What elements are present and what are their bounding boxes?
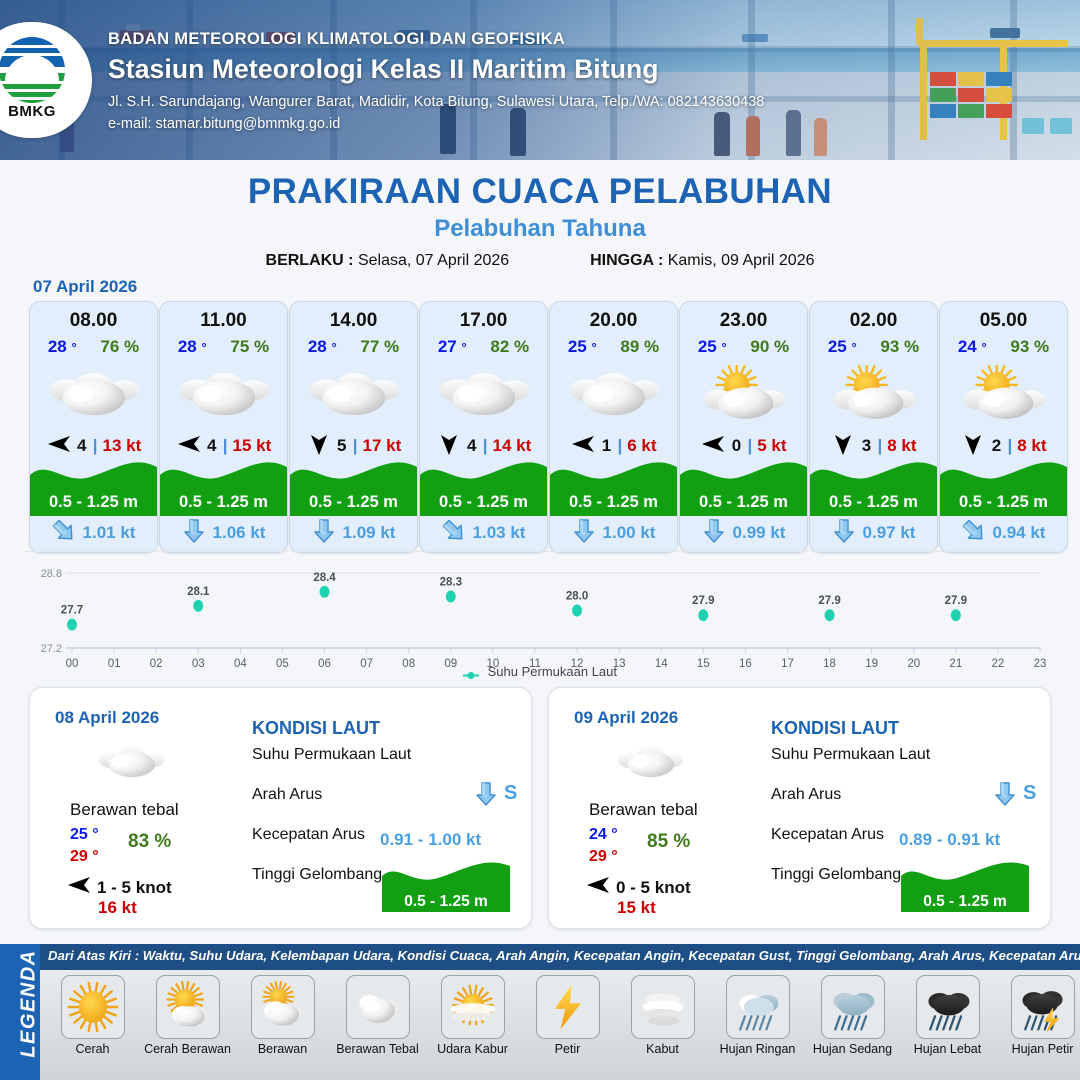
current-direction-arrow-icon: [572, 518, 596, 549]
card-wave-block: 0.5 - 1.25 m: [680, 451, 807, 516]
daily-temp-min: 24 °: [589, 826, 618, 844]
legend-vertical-label: LEGENDA: [18, 936, 41, 1072]
current-direction-arrow-icon: [702, 518, 726, 549]
cerah-berawan-icon: [156, 975, 220, 1039]
legend-item: Petir: [520, 975, 615, 1056]
svg-text:28.3: 28.3: [440, 576, 462, 588]
legend-item-label: Berawan Tebal: [330, 1042, 425, 1056]
daily-date: 09 April 2026: [574, 708, 678, 728]
card-temp-hum-row: 28 ° 77 %: [290, 337, 417, 357]
forecast-date-label: 07 April 2026: [33, 277, 137, 297]
valid-from-value: Selasa, 07 April 2026: [358, 252, 509, 269]
legend-item-label: Cerah: [45, 1042, 140, 1056]
card-humidity: 76 %: [100, 337, 139, 357]
svg-text:27.7: 27.7: [61, 605, 83, 617]
forecast-card: 05.00 24 ° 93 % 2 | 8: [939, 301, 1068, 553]
legend-caption: Dari Atas Kiri : Waktu, Suhu Udara, Kele…: [48, 948, 1078, 963]
card-temp-hum-row: 25 ° 93 %: [810, 337, 937, 357]
svg-text:28.4: 28.4: [313, 572, 336, 584]
legend-item-label: Petir: [520, 1042, 615, 1056]
current-direction-arrow-icon: [442, 518, 466, 549]
daily-wind-direction-arrow-icon: [66, 874, 92, 901]
daily-wind-row: 1 - 5 knot: [66, 874, 172, 901]
card-current-speed: 1.06 kt: [213, 523, 266, 543]
card-wave-block: 0.5 - 1.25 m: [810, 451, 937, 516]
card-wave-height: 0.5 - 1.25 m: [30, 493, 157, 512]
card-time: 17.00: [420, 310, 547, 332]
svg-text:27.9: 27.9: [692, 595, 714, 607]
card-temp-hum-row: 28 ° 76 %: [30, 337, 157, 357]
card-weather-icon-berawan-tebal: [290, 364, 417, 426]
daily-label-current-speed: Kecepatan Arus: [771, 826, 884, 844]
card-time: 05.00: [940, 310, 1067, 332]
card-wave-block: 0.5 - 1.25 m: [550, 451, 677, 516]
daily-current-speed-value: 0.91 - 1.00 kt: [380, 830, 481, 850]
current-direction-arrow-icon: [182, 518, 206, 549]
header-org-name: BADAN METEOROLOGI KLIMATOLOGI DAN GEOFIS…: [108, 30, 764, 49]
card-wave-height: 0.5 - 1.25 m: [940, 493, 1067, 512]
card-weather-icon-cerah-berawan: [940, 364, 1067, 426]
card-wave-block: 0.5 - 1.25 m: [420, 451, 547, 516]
svg-text:28.0: 28.0: [566, 591, 588, 603]
daily-label-current-direction: Arah Arus: [252, 786, 322, 804]
card-time: 08.00: [30, 310, 157, 332]
svg-text:28.1: 28.1: [187, 586, 210, 598]
hujan-sedang-icon: [821, 975, 885, 1039]
card-wave-block: 0.5 - 1.25 m: [30, 451, 157, 516]
hujan-ringan-icon: [726, 975, 790, 1039]
page-title: PRAKIRAAN CUACA PELABUHAN: [0, 172, 1080, 212]
card-time: 02.00: [810, 310, 937, 332]
current-direction-arrow-icon: [962, 518, 986, 549]
page-header: BMKG BADAN METEOROLOGI KLIMATOLOGI DAN G…: [0, 0, 1080, 160]
card-current-row: 1.09 kt: [290, 517, 417, 549]
card-current-row: 0.94 kt: [940, 517, 1067, 549]
card-weather-icon-cerah-berawan: [810, 364, 937, 426]
card-humidity: 89 %: [620, 337, 659, 357]
legend-item-label: Hujan Ringan: [710, 1042, 805, 1056]
card-wave-height: 0.5 - 1.25 m: [290, 493, 417, 512]
card-wave-block: 0.5 - 1.25 m: [290, 451, 417, 516]
valid-until-value: Kamis, 09 April 2026: [668, 252, 815, 269]
daily-wind-range: 0 - 5 knot: [616, 878, 691, 898]
bmkg-logo-text: BMKG: [0, 103, 69, 120]
card-time: 11.00: [160, 310, 287, 332]
valid-from-label: BERLAKU :: [266, 252, 354, 269]
card-temp-hum-row: 25 ° 89 %: [550, 337, 677, 357]
daily-current-direction-value: S: [504, 782, 517, 805]
card-wave-height: 0.5 - 1.25 m: [550, 493, 677, 512]
daily-wave-value: 0.5 - 1.25 m: [901, 893, 1029, 911]
card-current-row: 0.99 kt: [680, 517, 807, 549]
sst-legend-marker-icon: [463, 668, 479, 677]
daily-wind-direction-arrow-icon: [585, 874, 611, 901]
forecast-card-list: 08.00 28 ° 76 % 4 | 13 kt: [29, 301, 1051, 551]
daily-summary-panel: 09 April 2026 Berawan tebal 24 ° 29 ° 85…: [548, 687, 1051, 929]
legend-body: Dari Atas Kiri : Waktu, Suhu Udara, Kele…: [40, 944, 1080, 1080]
daily-wind-range: 1 - 5 knot: [97, 878, 172, 898]
card-humidity: 75 %: [230, 337, 269, 357]
card-current-row: 1.00 kt: [550, 517, 677, 549]
current-direction-arrow-icon: [312, 518, 336, 549]
daily-sea-title: KONDISI LAUT: [252, 718, 380, 739]
daily-date: 08 April 2026: [55, 708, 159, 728]
forecast-card: 08.00 28 ° 76 % 4 | 13 kt: [29, 301, 158, 553]
card-humidity: 82 %: [490, 337, 529, 357]
card-wave-height: 0.5 - 1.25 m: [810, 493, 937, 512]
hujan-petir-icon: [1011, 975, 1075, 1039]
berawan-icon: [251, 975, 315, 1039]
header-email: e-mail: stamar.bitung@bmmkg.go.id: [108, 116, 764, 132]
forecast-card: 02.00 25 ° 93 % 3 | 8: [809, 301, 938, 553]
legend-item: Berawan: [235, 975, 330, 1056]
daily-current-arrow-icon: [474, 781, 498, 809]
card-weather-icon-berawan-tebal: [550, 364, 677, 426]
daily-humidity: 83 %: [128, 831, 171, 853]
legend-item: Udara Kabur: [425, 975, 520, 1056]
legend-item: Kabut: [615, 975, 710, 1056]
daily-weather-icon-berawan-tebal: [92, 736, 172, 788]
daily-gust: 16 kt: [98, 898, 137, 918]
card-temperature: 25 °: [828, 337, 857, 357]
header-address: Jl. S.H. Sarundajang, Wangurer Barat, Ma…: [108, 94, 764, 110]
legend-item-label: Kabut: [615, 1042, 710, 1056]
daily-temp-max: 29 °: [70, 848, 99, 866]
header-text-block: BADAN METEOROLOGI KLIMATOLOGI DAN GEOFIS…: [108, 30, 764, 132]
card-current-row: 1.03 kt: [420, 517, 547, 549]
card-humidity: 77 %: [360, 337, 399, 357]
legend-item-label: Berawan: [235, 1042, 330, 1056]
legend-item-label: Hujan Lebat: [900, 1042, 995, 1056]
legend-item: Hujan Petir: [995, 975, 1080, 1056]
card-wave-block: 0.5 - 1.25 m: [940, 451, 1067, 516]
card-time: 20.00: [550, 310, 677, 332]
card-humidity: 93 %: [880, 337, 919, 357]
card-current-row: 1.01 kt: [30, 517, 157, 549]
legend-section: LEGENDA Dari Atas Kiri : Waktu, Suhu Uda…: [0, 944, 1080, 1080]
card-wave-height: 0.5 - 1.25 m: [420, 493, 547, 512]
legend-item-label: Cerah Berawan: [140, 1042, 235, 1056]
legend-item: Hujan Sedang: [805, 975, 900, 1056]
card-temperature: 24 °: [958, 337, 987, 357]
validity-row: BERLAKU : Selasa, 07 April 2026 HINGGA :…: [0, 252, 1080, 270]
legend-item-label: Hujan Sedang: [805, 1042, 900, 1056]
daily-condition: Berawan tebal: [70, 800, 179, 820]
card-current-row: 0.97 kt: [810, 517, 937, 549]
daily-label-current-direction: Arah Arus: [771, 786, 841, 804]
udara-kabur-icon: [441, 975, 505, 1039]
daily-summary-panel: 08 April 2026 Berawan tebal 25 ° 29 ° 83…: [29, 687, 532, 929]
forecast-card: 23.00 25 ° 90 % 0 | 5: [679, 301, 808, 553]
card-temperature: 28 °: [178, 337, 207, 357]
card-time: 23.00: [680, 310, 807, 332]
forecast-card: 14.00 28 ° 77 % 5 | 17 kt: [289, 301, 418, 553]
card-humidity: 93 %: [1010, 337, 1049, 357]
daily-label-wave-height: Tinggi Gelombang: [771, 866, 901, 884]
card-temp-hum-row: 24 ° 93 %: [940, 337, 1067, 357]
chart-legend-label: Suhu Permukaan Laut: [488, 664, 617, 679]
legend-item: Cerah: [45, 975, 140, 1056]
daily-condition: Berawan tebal: [589, 800, 698, 820]
daily-weather-icon-berawan-tebal: [611, 736, 691, 788]
card-temperature: 28 °: [48, 337, 77, 357]
petir-icon: [536, 975, 600, 1039]
daily-summary-list: 08 April 2026 Berawan tebal 25 ° 29 ° 83…: [29, 687, 1051, 927]
daily-humidity: 85 %: [647, 831, 690, 853]
forecast-card: 17.00 27 ° 82 % 4 | 14 kt: [419, 301, 548, 553]
daily-temp-max: 29 °: [589, 848, 618, 866]
header-station-name: Stasiun Meteorologi Kelas II Maritim Bit…: [108, 54, 764, 85]
card-current-speed: 0.99 kt: [733, 523, 786, 543]
card-current-speed: 1.00 kt: [603, 523, 656, 543]
kabut-icon: [631, 975, 695, 1039]
legend-item-label: Hujan Petir: [995, 1042, 1080, 1056]
daily-current-speed-value: 0.89 - 0.91 kt: [899, 830, 1000, 850]
svg-text:28.8: 28.8: [41, 568, 62, 580]
chart-legend: Suhu Permukaan Laut: [0, 664, 1080, 679]
valid-until-label: HINGGA :: [590, 252, 663, 269]
card-wave-block: 0.5 - 1.25 m: [160, 451, 287, 516]
card-current-speed: 1.01 kt: [83, 523, 136, 543]
card-wave-height: 0.5 - 1.25 m: [680, 493, 807, 512]
daily-temp-min: 25 °: [70, 826, 99, 844]
card-current-row: 1.06 kt: [160, 517, 287, 549]
card-weather-icon-berawan-tebal: [420, 364, 547, 426]
daily-label-sst: Suhu Permukaan Laut: [252, 746, 411, 764]
legend-item: Berawan Tebal: [330, 975, 425, 1056]
bmkg-emblem-icon: [0, 37, 65, 103]
card-current-speed: 0.97 kt: [863, 523, 916, 543]
daily-sea-title: KONDISI LAUT: [771, 718, 899, 739]
legend-item-list: Cerah Cerah Berawan Berawan Berawan Teba…: [45, 975, 1077, 1056]
daily-label-wave-height: Tinggi Gelombang: [252, 866, 382, 884]
daily-current-direction-value: S: [1023, 782, 1036, 805]
forecast-card: 11.00 28 ° 75 % 4 | 15 kt: [159, 301, 288, 553]
cerah-icon: [61, 975, 125, 1039]
hujan-lebat-icon: [916, 975, 980, 1039]
card-temperature: 28 °: [308, 337, 337, 357]
card-temp-hum-row: 27 ° 82 %: [420, 337, 547, 357]
section-divider: [24, 551, 1056, 552]
current-direction-arrow-icon: [832, 518, 856, 549]
card-humidity: 90 %: [750, 337, 789, 357]
daily-label-current-speed: Kecepatan Arus: [252, 826, 365, 844]
card-weather-icon-cerah-berawan: [680, 364, 807, 426]
card-wave-height: 0.5 - 1.25 m: [160, 493, 287, 512]
daily-current-arrow-icon: [993, 781, 1017, 809]
daily-wave-value: 0.5 - 1.25 m: [382, 893, 510, 911]
card-temperature: 27 °: [438, 337, 467, 357]
svg-text:27.2: 27.2: [41, 643, 62, 655]
legend-item-label: Udara Kabur: [425, 1042, 520, 1056]
berawan-tebal-icon: [346, 975, 410, 1039]
card-time: 14.00: [290, 310, 417, 332]
card-weather-icon-berawan-tebal: [160, 364, 287, 426]
card-current-speed: 1.03 kt: [473, 523, 526, 543]
current-direction-arrow-icon: [52, 518, 76, 549]
card-temperature: 25 °: [568, 337, 597, 357]
daily-label-sst: Suhu Permukaan Laut: [771, 746, 930, 764]
legend-item: Hujan Ringan: [710, 975, 805, 1056]
legend-item: Cerah Berawan: [140, 975, 235, 1056]
forecast-card: 20.00 25 ° 89 % 1 | 6 kt: [549, 301, 678, 553]
card-current-speed: 0.94 kt: [993, 523, 1046, 543]
daily-wind-row: 0 - 5 knot: [585, 874, 691, 901]
daily-gust: 15 kt: [617, 898, 656, 918]
card-temp-hum-row: 25 ° 90 %: [680, 337, 807, 357]
svg-text:27.9: 27.9: [945, 595, 967, 607]
card-temperature: 25 °: [698, 337, 727, 357]
card-weather-icon-berawan-tebal: [30, 364, 157, 426]
legend-side-bar: LEGENDA: [0, 944, 40, 1080]
page-subtitle: Pelabuhan Tahuna: [0, 215, 1080, 243]
card-temp-hum-row: 28 ° 75 %: [160, 337, 287, 357]
card-current-speed: 1.09 kt: [343, 523, 396, 543]
legend-item: Hujan Lebat: [900, 975, 995, 1056]
svg-text:27.9: 27.9: [818, 595, 840, 607]
